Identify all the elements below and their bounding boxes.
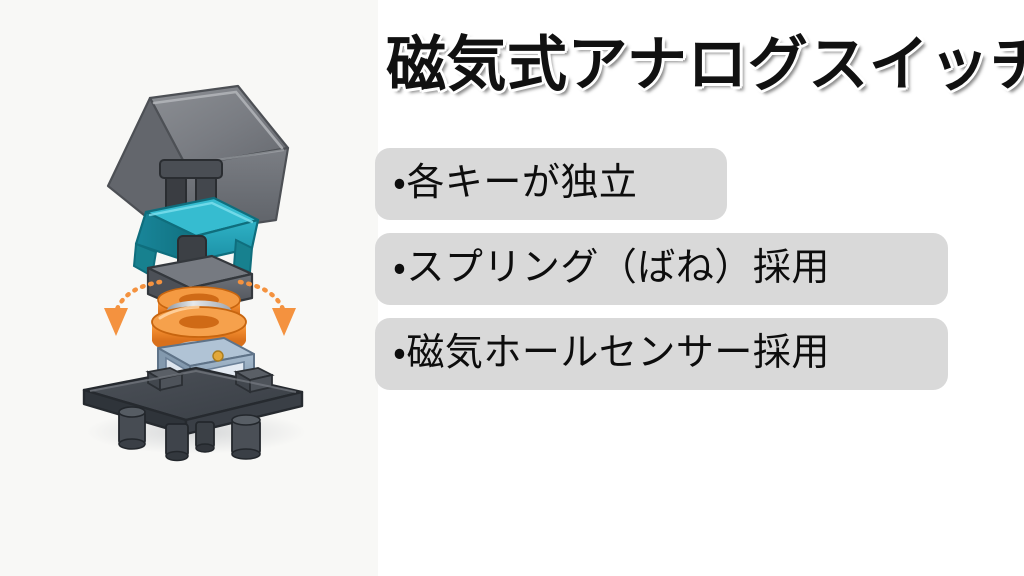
switch-illustration: [0, 0, 378, 576]
bullet-row: ・磁気ホールセンサー採用: [375, 318, 975, 403]
bullet-item-1-label: ・各キーが独立: [393, 160, 637, 206]
bullet-row: ・スプリング（ばね）採用: [375, 233, 975, 318]
slide-root: 磁気式アナログスイッチ ・各キーが独立 ・スプリング（ばね）採用 ・磁気ホールセ…: [0, 0, 1024, 576]
bullet-item-3[interactable]: ・磁気ホールセンサー採用: [375, 318, 948, 390]
bullet-list: ・各キーが独立 ・スプリング（ばね）採用 ・磁気ホールセンサー採用: [375, 148, 975, 403]
bullet-item-3-label: ・磁気ホールセンサー採用: [393, 330, 830, 376]
bullet-item-2[interactable]: ・スプリング（ばね）採用: [375, 233, 948, 305]
bullet-item-1[interactable]: ・各キーが独立: [375, 148, 727, 220]
page-title: 磁気式アナログスイッチ: [386, 22, 1018, 108]
illustration-panel: [0, 0, 378, 576]
bullet-item-2-label: ・スプリング（ばね）採用: [393, 245, 830, 291]
bullet-row: ・各キーが独立: [375, 148, 975, 233]
